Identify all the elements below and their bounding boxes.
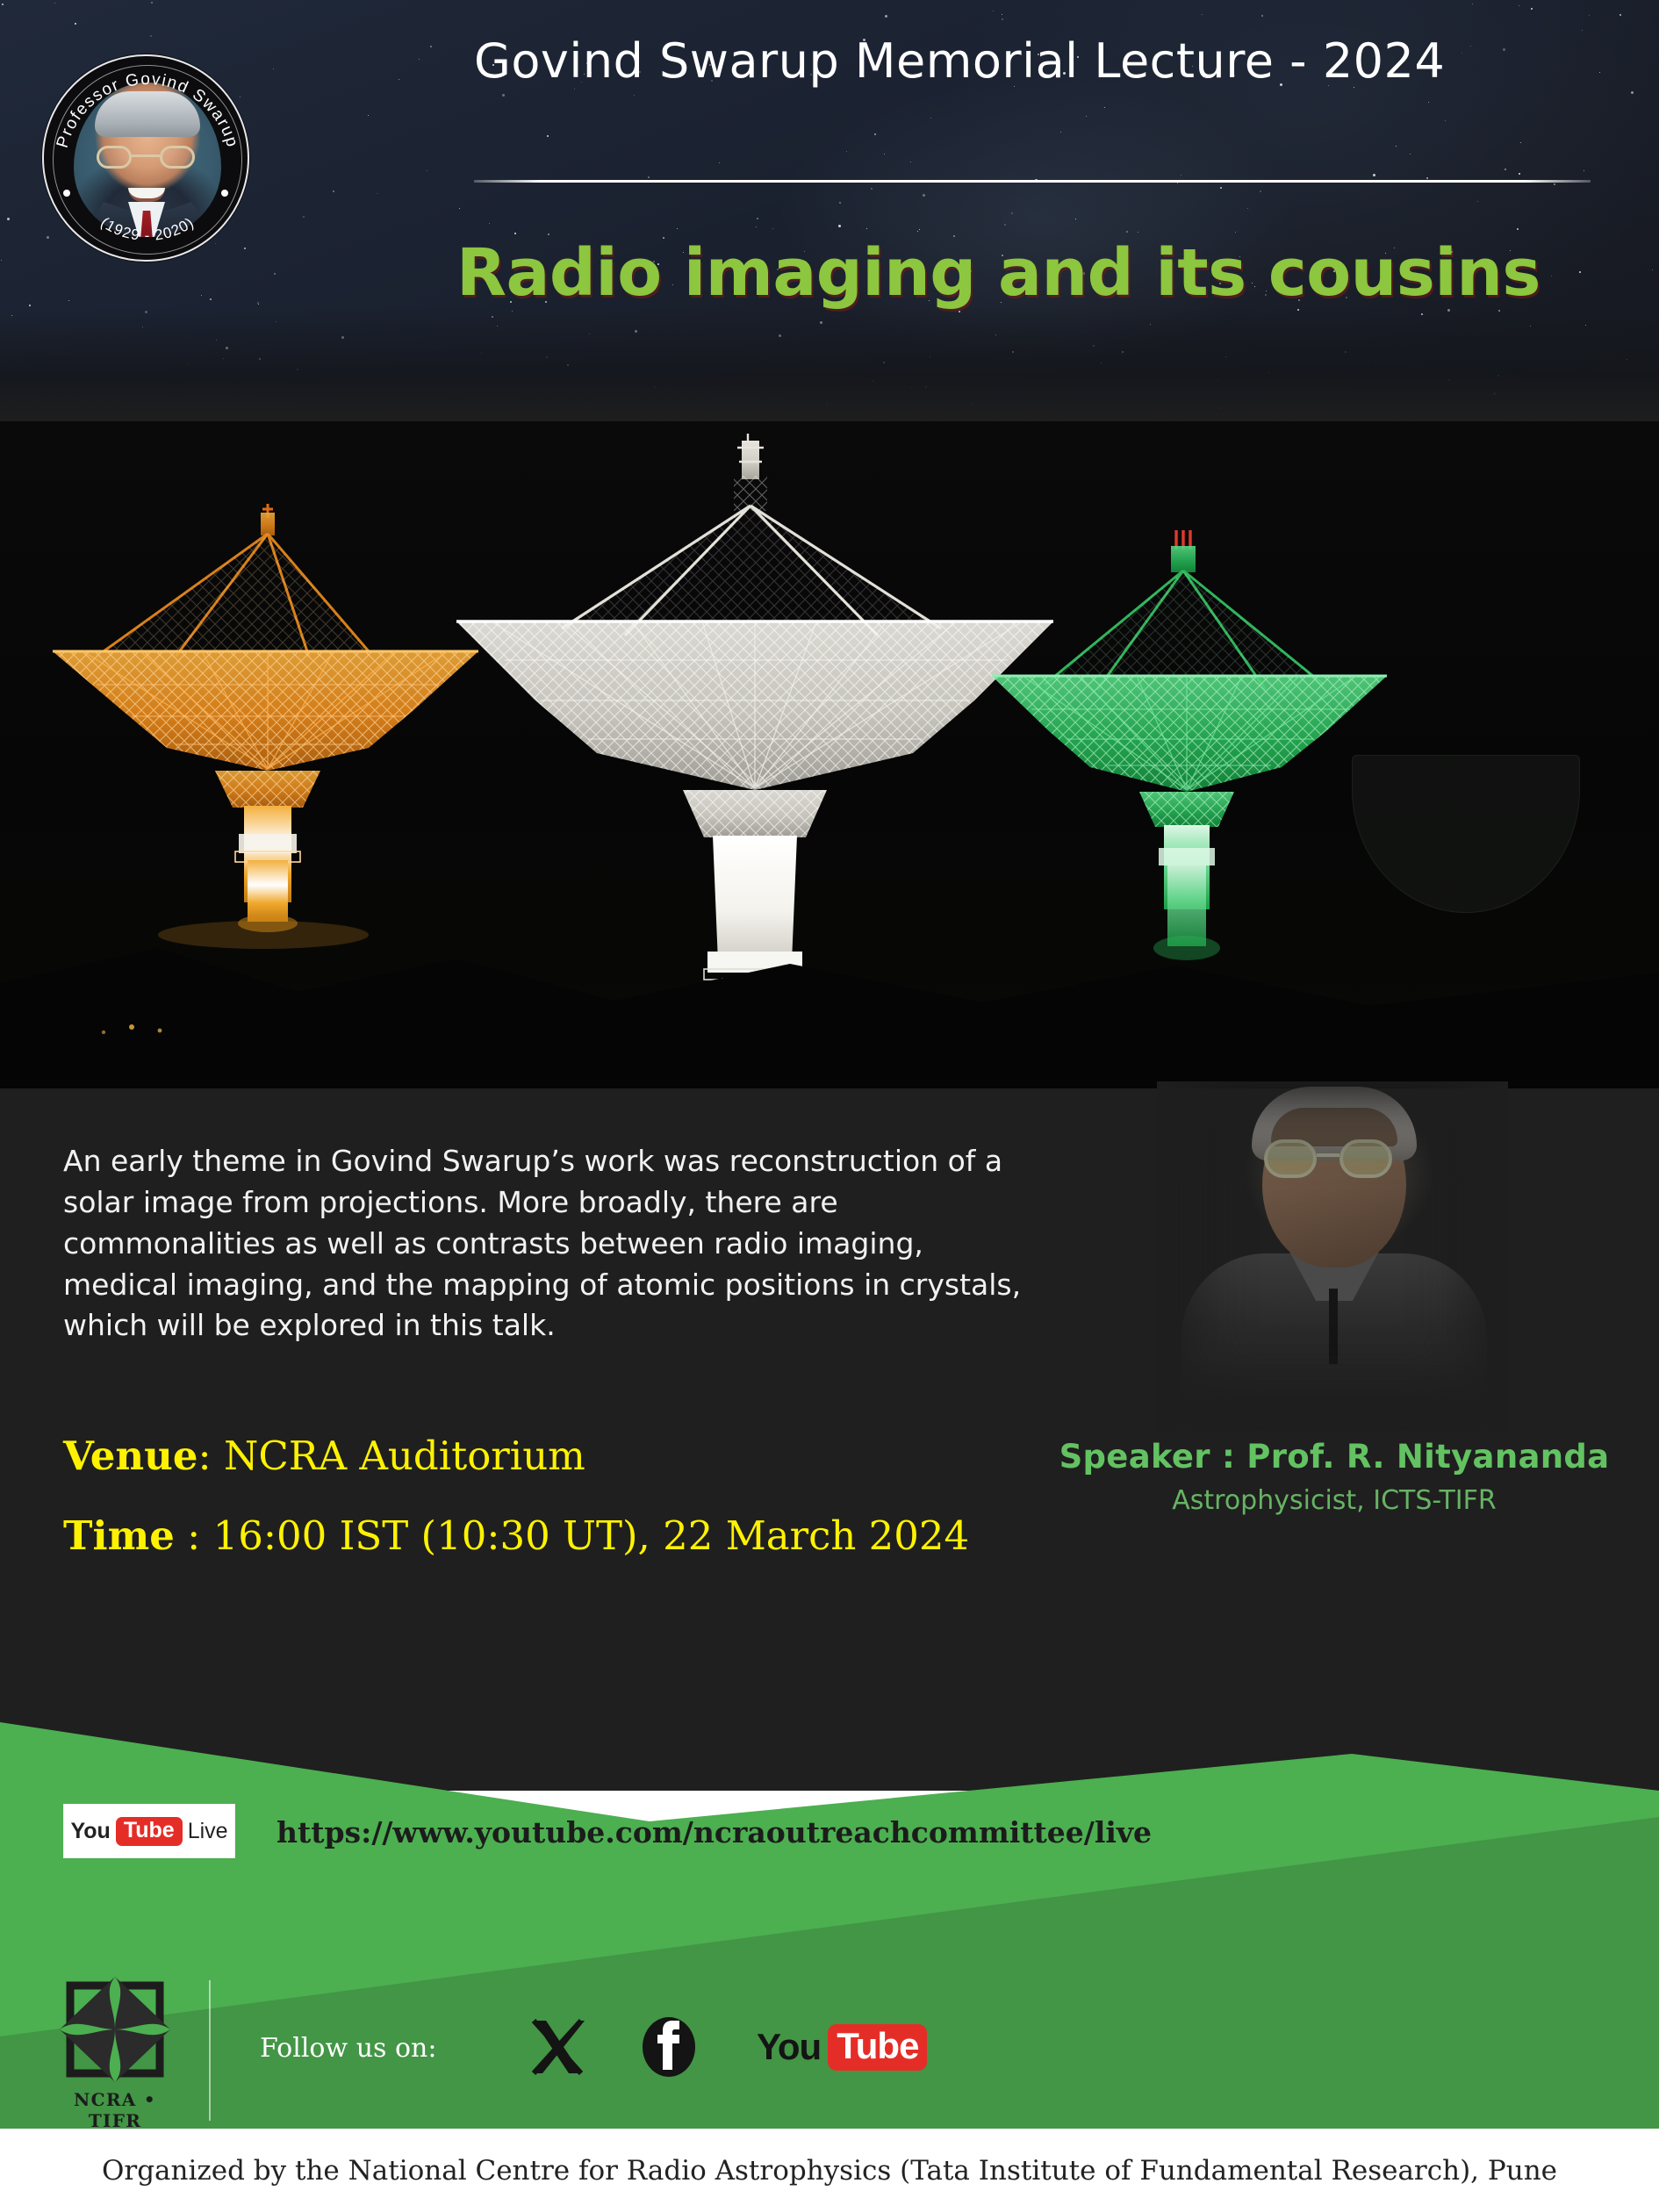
- main-content-section: An early theme in Govind Swarup’s work w…: [0, 1088, 1659, 1791]
- time-label: Time: [63, 1512, 175, 1559]
- badge-arc-bottom-text: (1929 - 2020): [44, 56, 249, 262]
- speaker-name: Speaker : Prof. R. Nityananda: [1045, 1438, 1624, 1476]
- venue-row: Venue: NCRA Auditorium: [63, 1433, 1064, 1479]
- svg-text:(1929 - 2020): (1929 - 2020): [97, 214, 197, 244]
- badge-arc-bottom-label: (1929 - 2020): [97, 214, 197, 244]
- youtube-tube-text: Tube: [116, 1817, 183, 1846]
- time-row: Time : 16:00 IST (10:30 UT), 22 March 20…: [63, 1512, 1064, 1559]
- lecture-title: Radio imaging and its cousins: [456, 235, 1633, 311]
- header-divider: [474, 180, 1591, 183]
- twitter-x-icon[interactable]: [527, 2015, 590, 2079]
- green-dish: [992, 530, 1387, 960]
- youtube-footer-you: You: [757, 2026, 821, 2068]
- hero-telescope-image: [0, 421, 1659, 1088]
- livestream-url[interactable]: https://www.youtube.com/ncraoutreachcomm…: [276, 1815, 1418, 1849]
- badge-dot-left-icon: [63, 190, 70, 197]
- header-gradient-fade: [0, 307, 1659, 421]
- venue-value: : NCRA Auditorium: [197, 1433, 585, 1479]
- speaker-affiliation: Astrophysicist, ICTS-TIFR: [1045, 1485, 1624, 1516]
- ncra-star-icon: [54, 1973, 176, 2086]
- ncra-tifr-logo: NCRA • TIFR: [54, 1973, 176, 2122]
- white-dish: [456, 434, 1053, 1057]
- govind-swarup-badge: Professor Govind Swarup (1929 - 2020): [42, 54, 249, 262]
- badge-dot-right-icon: [221, 190, 228, 197]
- ncra-tifr-label: NCRA • TIFR: [54, 2089, 176, 2131]
- youtube-footer-tube: Tube: [828, 2024, 927, 2071]
- page-title: Govind Swarup Memorial Lecture - 2024: [474, 33, 1492, 89]
- youtube-live-text: Live: [188, 1819, 228, 1844]
- saffron-dish: [53, 504, 478, 932]
- event-details: Venue: NCRA Auditorium Time : 16:00 IST …: [63, 1433, 1064, 1559]
- venue-label: Venue: [63, 1433, 197, 1479]
- organizer-text: Organized by the National Centre for Rad…: [0, 2155, 1659, 2187]
- speaker-photo: [1157, 1081, 1508, 1431]
- youtube-icon[interactable]: You Tube: [757, 2019, 927, 2075]
- abstract-text: An early theme in Govind Swarup’s work w…: [63, 1141, 1046, 1347]
- time-value: : 16:00 IST (10:30 UT), 22 March 2024: [175, 1512, 969, 1559]
- follow-us-label: Follow us on:: [260, 2033, 506, 2064]
- facebook-icon[interactable]: [637, 2015, 700, 2079]
- youtube-live-badge[interactable]: You Tube Live: [63, 1804, 235, 1858]
- header-section: Professor Govind Swarup (1929 - 2020) Go…: [0, 0, 1659, 421]
- poster-root: Professor Govind Swarup (1929 - 2020) Go…: [0, 0, 1659, 2212]
- footer-vertical-divider: [209, 1980, 211, 2121]
- youtube-you-text: You: [70, 1819, 110, 1844]
